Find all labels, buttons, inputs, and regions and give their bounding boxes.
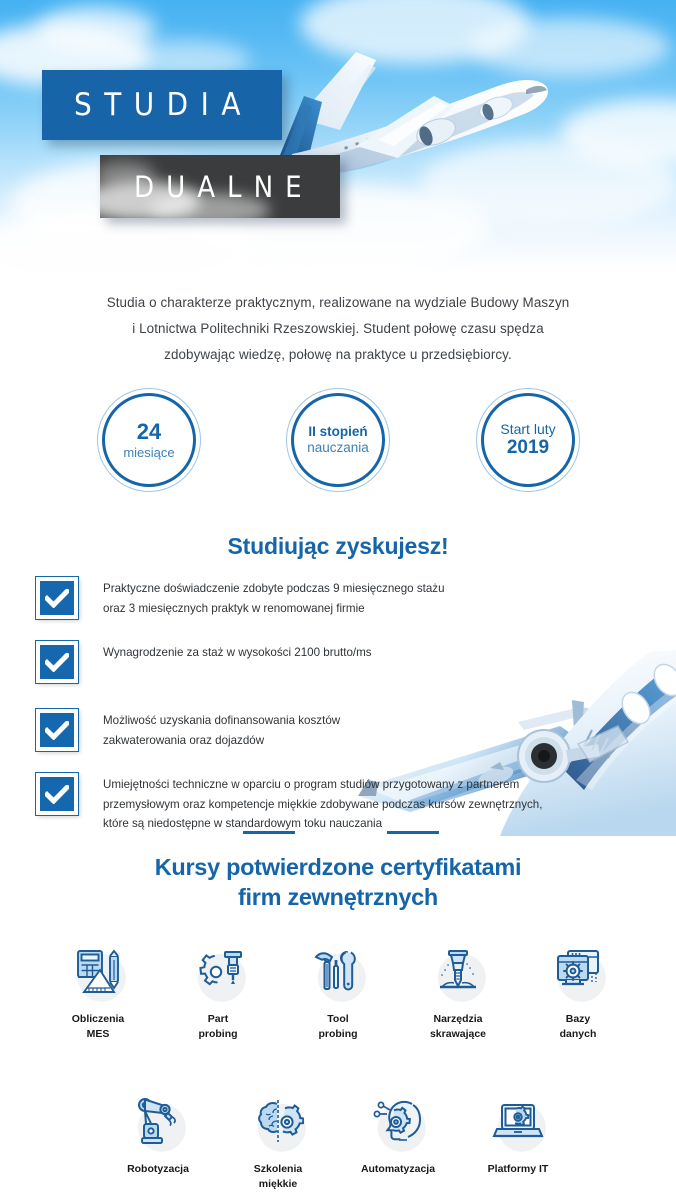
benefit-line: zakwaterowania oraz dojazdów xyxy=(103,731,340,751)
robot-arm-icon xyxy=(98,1088,218,1156)
hero-banner: STUDIA DUALNE xyxy=(0,0,676,272)
course-item-it-platforms[interactable]: Platformy IT xyxy=(458,1088,578,1191)
fact-value: II stopień xyxy=(307,424,369,440)
fact-label: nauczania xyxy=(307,440,369,456)
course-label-line: Robotyzacja xyxy=(98,1162,218,1177)
benefit-item: Umiejętności techniczne w oparciu o prog… xyxy=(36,771,636,834)
calculator-ruler-pencil-icon xyxy=(38,938,158,1006)
checkmark-glyph xyxy=(45,653,69,672)
fact-value: 2019 xyxy=(500,437,555,459)
intro-paragraph: Studia o charakterze praktycznym, realiz… xyxy=(68,290,608,368)
course-label: Platformy IT xyxy=(458,1162,578,1177)
course-item-robotics[interactable]: Robotyzacja xyxy=(98,1088,218,1191)
fact-label: Start luty xyxy=(500,421,555,438)
course-label: Tool probing xyxy=(278,1012,398,1041)
course-item-databases[interactable]: Bazy danych xyxy=(518,938,638,1041)
infographic-page: STUDIA DUALNE Studia o charakterze prakt… xyxy=(0,0,676,1200)
checkmark-icon xyxy=(36,577,78,619)
course-item-automation[interactable]: Automatyzacja xyxy=(338,1088,458,1191)
intro-line-2: i Lotnictwa Politechniki Rzeszowskiej. S… xyxy=(68,316,608,342)
courses-heading-line-1: Kursy potwierdzone certyfikatami xyxy=(0,852,676,882)
benefit-item: Praktyczne doświadczenie zdobyte podczas… xyxy=(36,575,636,619)
fact-circle-start: Start luty 2019 xyxy=(476,388,580,492)
course-label: Part probing xyxy=(158,1012,278,1041)
course-label-line: Narzędzia xyxy=(398,1012,518,1027)
course-label-line: danych xyxy=(518,1027,638,1042)
course-label-line: Szkolenia xyxy=(218,1162,338,1177)
checkmark-glyph xyxy=(45,589,69,608)
monitor-gear-icon xyxy=(518,938,638,1006)
course-label-line: Bazy xyxy=(518,1012,638,1027)
checkmark-glyph xyxy=(45,721,69,740)
course-label-line: Tool xyxy=(278,1012,398,1027)
checkmark-icon xyxy=(36,641,78,683)
benefit-text: Wynagrodzenie za staż w wysokości 2100 b… xyxy=(103,639,372,663)
benefit-item: Możliwość uzyskania dofinansowania koszt… xyxy=(36,707,636,751)
head-gear-circuit-icon xyxy=(338,1088,458,1156)
course-item-mes[interactable]: Obliczenia MES xyxy=(38,938,158,1041)
benefits-heading: Studiując zyskujesz! xyxy=(0,533,676,560)
course-label-line: Part xyxy=(158,1012,278,1027)
course-label-line: probing xyxy=(278,1027,398,1042)
course-item-tool-probing[interactable]: Tool probing xyxy=(278,938,398,1041)
benefit-line: Wynagrodzenie za staż w wysokości 2100 b… xyxy=(103,643,372,663)
course-label-line: miękkie xyxy=(218,1177,338,1192)
course-label-line: probing xyxy=(158,1027,278,1042)
fact-circle-degree: II stopień nauczania xyxy=(286,388,390,492)
hero-title-line1: STUDIA xyxy=(42,87,253,123)
checkmark-icon xyxy=(36,709,78,751)
course-label-line: MES xyxy=(38,1027,158,1042)
course-label: Robotyzacja xyxy=(98,1162,218,1177)
courses-heading: Kursy potwierdzone certyfikatami firm ze… xyxy=(0,852,676,912)
benefit-line: Możliwość uzyskania dofinansowania koszt… xyxy=(103,711,340,731)
benefit-line: oraz 3 miesięcznych praktyk w renomowane… xyxy=(103,599,445,619)
courses-row-1: Obliczenia MES Part xyxy=(0,938,676,1041)
title-plate-primary: STUDIA xyxy=(42,70,282,140)
intro-line-3: zdobywając wiedzę, połowę na praktyce u … xyxy=(68,342,608,368)
courses-row-2: Robotyzacja xyxy=(0,1088,676,1191)
benefit-text: Praktyczne doświadczenie zdobyte podczas… xyxy=(103,575,445,618)
course-label: Automatyzacja xyxy=(338,1162,458,1177)
benefit-text: Możliwość uzyskania dofinansowania koszt… xyxy=(103,707,340,750)
laptop-gear-icon xyxy=(458,1088,578,1156)
benefit-line: przemysłowym oraz kompetencje miękkie zd… xyxy=(103,795,542,815)
intro-line-1: Studia o charakterze praktycznym, realiz… xyxy=(68,290,608,316)
course-item-cutting-tools[interactable]: Narzędzia skrawające xyxy=(398,938,518,1041)
gear-probe-icon xyxy=(158,938,278,1006)
title-plate-secondary: DUALNE xyxy=(100,155,340,218)
fact-value: 24 xyxy=(123,419,174,445)
course-label-line: Obliczenia xyxy=(38,1012,158,1027)
course-label: Szkolenia miękkie xyxy=(218,1162,338,1191)
course-item-part-probing[interactable]: Part probing xyxy=(158,938,278,1041)
checkmark-glyph xyxy=(45,785,69,804)
benefit-item: Wynagrodzenie za staż w wysokości 2100 b… xyxy=(36,639,636,683)
course-item-soft-skills[interactable]: Szkolenia miękkie xyxy=(218,1088,338,1191)
fact-label: miesiące xyxy=(123,445,174,460)
benefits-list: Praktyczne doświadczenie zdobyte podczas… xyxy=(36,575,636,848)
key-facts-row: 24 miesiące II stopień nauczania Start l… xyxy=(0,388,676,498)
benefit-line: Praktyczne doświadczenie zdobyte podczas… xyxy=(103,579,445,599)
courses-heading-line-2: firm zewnętrznych xyxy=(0,882,676,912)
course-label: Bazy danych xyxy=(518,1012,638,1041)
fact-circle-duration: 24 miesiące xyxy=(97,388,201,492)
benefit-line: które są niedostępne w standardowym toku… xyxy=(103,814,542,834)
checkmark-icon xyxy=(36,773,78,815)
course-label: Obliczenia MES xyxy=(38,1012,158,1041)
course-label-line: Platformy IT xyxy=(458,1162,578,1177)
brain-gear-icon xyxy=(218,1088,338,1156)
course-label-line: skrawające xyxy=(398,1027,518,1042)
benefit-text: Umiejętności techniczne w oparciu o prog… xyxy=(103,771,542,834)
benefit-line: Umiejętności techniczne w oparciu o prog… xyxy=(103,775,542,795)
course-label-line: Automatyzacja xyxy=(338,1162,458,1177)
course-label: Narzędzia skrawające xyxy=(398,1012,518,1041)
hammer-wrench-screwdriver-icon xyxy=(278,938,398,1006)
drill-bit-icon xyxy=(398,938,518,1006)
